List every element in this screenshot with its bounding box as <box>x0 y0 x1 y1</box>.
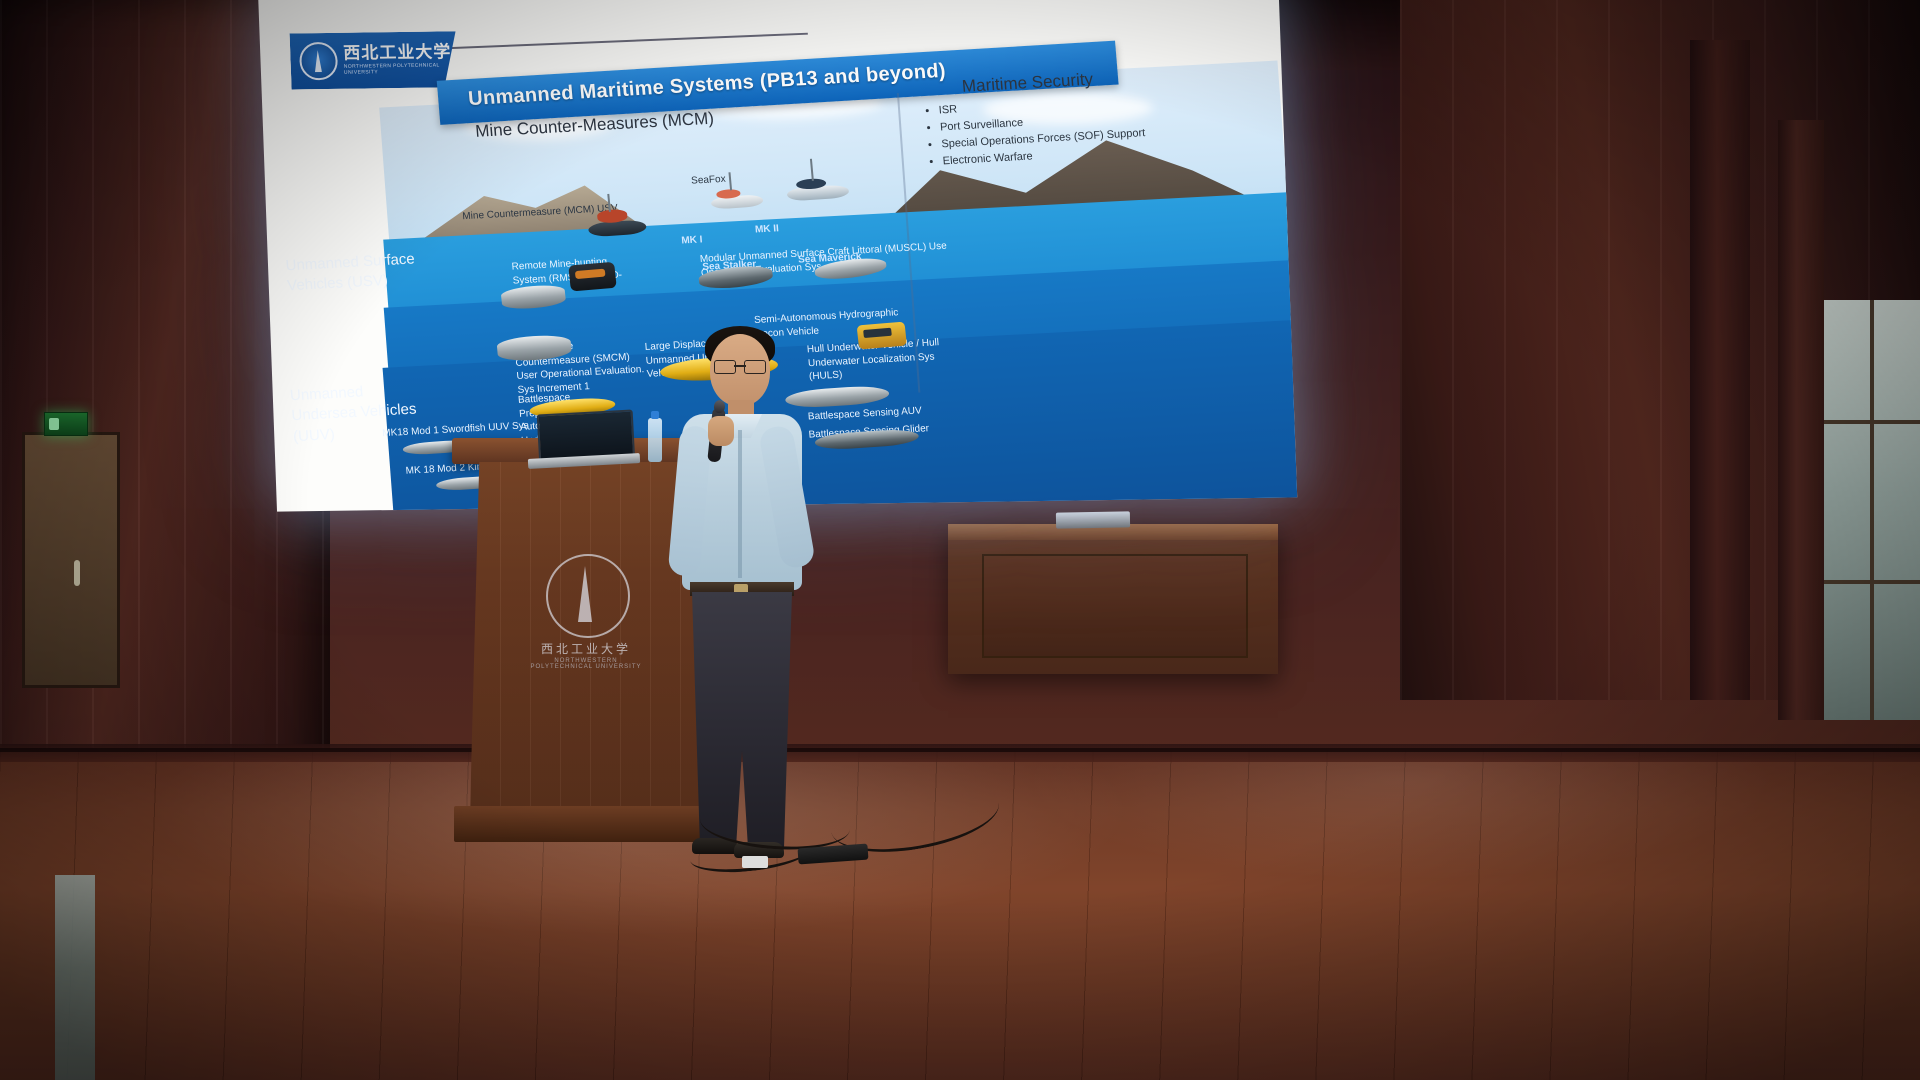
door-glass <box>55 875 95 1080</box>
speaker <box>672 330 822 840</box>
speaker-hand <box>708 416 734 446</box>
window-column <box>1778 120 1824 720</box>
lectern-emblem-cn: 西北工业大学 <box>530 640 642 657</box>
shirt-placket <box>738 430 742 578</box>
side-window <box>1824 300 1920 720</box>
slide-university-logo: 西北工业大学 NORTHWESTERN POLYTECHNICAL UNIVER… <box>290 31 458 89</box>
callout-mk1: MK I <box>681 233 703 248</box>
door-handle[interactable] <box>74 560 80 586</box>
logo-name-cn: 西北工业大学 <box>343 44 457 63</box>
floor-baseboard <box>0 744 1920 762</box>
npu-emblem-icon: 西北工业大学 NORTHWESTERN POLYTECHNICAL UNIVER… <box>530 554 642 680</box>
water-bottle <box>648 418 662 462</box>
side-table <box>948 524 1278 674</box>
callout-mk2: MK II <box>755 222 780 237</box>
lectern-emblem-en: NORTHWESTERN POLYTECHNICAL UNIVERSITY <box>530 658 642 670</box>
logo-name-en: NORTHWESTERN POLYTECHNICAL UNIVERSITY <box>344 62 457 76</box>
wall-column-right <box>1690 40 1750 700</box>
callout-seafox: SeaFox <box>691 173 726 188</box>
hall-door[interactable] <box>22 432 120 688</box>
npu-seal-icon <box>299 42 338 81</box>
row-label-usv: Unmanned Surface Vehicles (USV) <box>285 249 428 297</box>
security-bullet-list: ISR Port Surveillance Special Operations… <box>925 91 1147 171</box>
exit-sign-icon <box>44 412 88 436</box>
side-table-panel <box>982 554 1248 658</box>
floor-wall-seam <box>0 748 1920 752</box>
presentation-photo-scene: 现代技术在水 西北工业大学 NORTHWESTERN POLYTECH <box>0 0 1920 1080</box>
cable-plug <box>742 856 768 868</box>
glasses-icon <box>714 360 766 372</box>
